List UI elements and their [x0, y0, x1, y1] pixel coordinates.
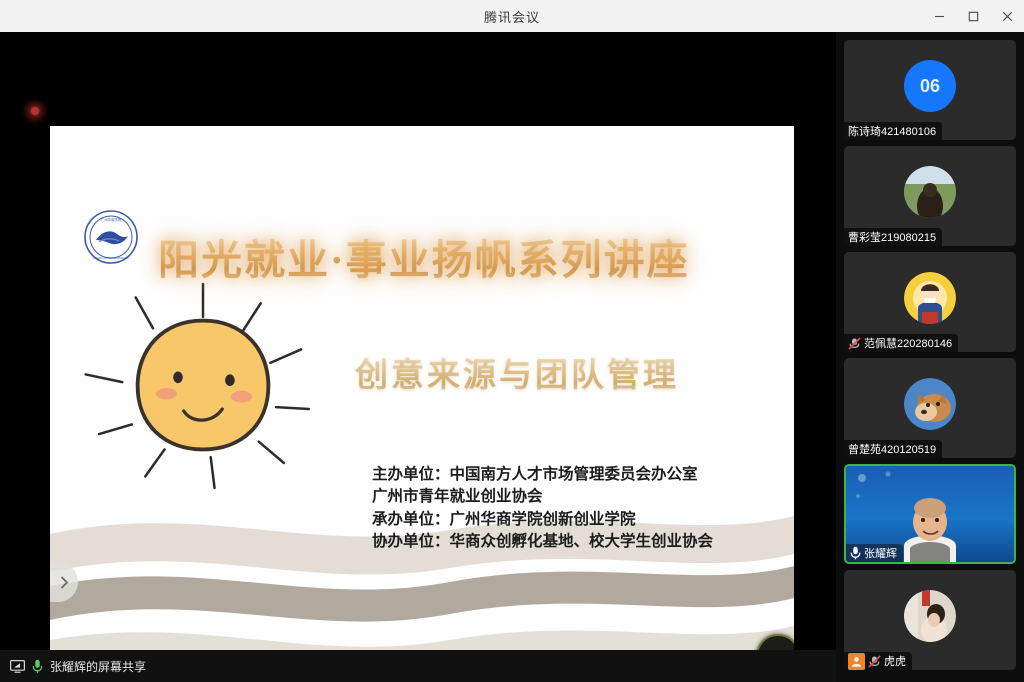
avatar — [904, 272, 956, 324]
participant-badge: 曹彩莹219080215 — [844, 228, 942, 246]
participant-filmstrip[interactable]: 06 陈诗琦421480106 — [836, 32, 1024, 682]
minimize-icon — [934, 11, 945, 22]
status-bar-text: 张耀辉的屏幕共享 — [50, 658, 146, 675]
avatar — [904, 590, 956, 642]
participant-tile[interactable]: 虎虎 — [844, 570, 1016, 670]
participant-badge: 范佩慧220280146 — [844, 334, 958, 352]
close-icon — [1002, 11, 1013, 22]
microphone-muted-icon — [848, 337, 861, 350]
avatar-photo-icon — [904, 590, 956, 642]
shared-screen-stage[interactable]: 张耀辉 广州华商学院 GUANGZHOU HUASHANG — [0, 32, 836, 682]
avatar — [904, 166, 956, 218]
window-controls — [922, 0, 1024, 32]
slide-subtitle: 创意来源与团队管理 — [355, 348, 794, 396]
avatar-photo-icon — [904, 378, 956, 430]
presentation-slide: 广州华商学院 GUANGZHOU HUASHANG — [50, 126, 794, 682]
organizer-line: 广州市青年就业创业协会 — [372, 486, 792, 508]
participant-name: 张耀辉 — [864, 545, 897, 561]
meeting-window: 腾讯会议 张耀辉 — [0, 0, 1024, 682]
participant-tile[interactable]: 范佩慧220280146 — [844, 252, 1016, 352]
avatar-photo-icon — [904, 272, 956, 324]
title-bar: 腾讯会议 — [0, 0, 1024, 32]
participant-tile[interactable]: 曾楚苑420120519 — [844, 358, 1016, 458]
participant-badge: 虎虎 — [844, 652, 912, 670]
microphone-icon — [850, 546, 861, 560]
status-bar: 张耀辉的屏幕共享 — [0, 650, 836, 682]
organizer-line: 承办单位：广州华商学院创新创业学院 — [372, 509, 792, 531]
participant-badge: 陈诗琦421480106 — [844, 122, 942, 140]
microphone-muted-icon — [868, 655, 881, 668]
participant-name: 曹彩莹219080215 — [848, 229, 936, 245]
host-icon — [848, 653, 865, 670]
maximize-icon — [968, 11, 979, 22]
avatar: 06 — [904, 60, 956, 112]
recording-indicator-icon — [26, 102, 44, 120]
minimize-button[interactable] — [922, 0, 956, 32]
avatar-photo-icon — [904, 166, 956, 218]
participant-tile[interactable]: 曹彩莹219080215 — [844, 146, 1016, 246]
university-emblem-icon: 广州华商学院 GUANGZHOU HUASHANG — [83, 209, 139, 265]
participant-tile-active-speaker[interactable]: 张耀辉 — [844, 464, 1016, 564]
svg-text:GUANGZHOU HUASHANG: GUANGZHOU HUASHANG — [93, 256, 131, 260]
avatar — [904, 378, 956, 430]
participant-name: 陈诗琦421480106 — [848, 123, 936, 139]
window-title: 腾讯会议 — [484, 7, 540, 26]
organizer-line: 主办单位：中国南方人才市场管理委员会办公室 — [372, 464, 792, 486]
participant-name: 范佩慧220280146 — [864, 335, 952, 351]
screen-share-icon — [10, 660, 25, 673]
organizer-block: 主办单位：中国南方人才市场管理委员会办公室 广州市青年就业创业协会 承办单位：广… — [372, 464, 792, 554]
organizer-line: 协办单位：华商众创孵化基地、校大学生创业协会 — [372, 531, 792, 553]
microphone-icon[interactable] — [32, 659, 43, 674]
shared-content-area: 张耀辉 广州华商学院 GUANGZHOU HUASHANG — [8, 54, 828, 662]
participant-badge: 张耀辉 — [846, 544, 903, 562]
participant-badge: 曾楚苑420120519 — [844, 440, 942, 458]
close-button[interactable] — [990, 0, 1024, 32]
participant-name: 虎虎 — [884, 653, 906, 669]
smiling-sun-illustration — [78, 274, 328, 496]
participant-name: 曾楚苑420120519 — [848, 441, 936, 457]
participant-tile[interactable]: 06 陈诗琦421480106 — [844, 40, 1016, 140]
avatar-initials: 06 — [920, 76, 940, 97]
maximize-button[interactable] — [956, 0, 990, 32]
chevron-right-icon — [60, 576, 69, 589]
svg-text:广州华商学院: 广州华商学院 — [101, 217, 122, 222]
slide-title: 阳光就业·事业扬帆系列讲座 — [158, 226, 788, 286]
